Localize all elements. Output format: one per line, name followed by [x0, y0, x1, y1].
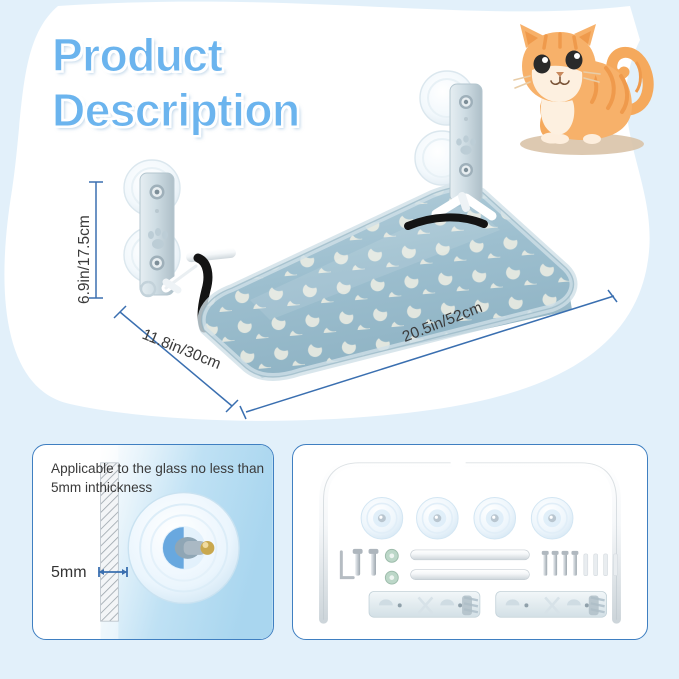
suction-cup-icon: [128, 493, 239, 604]
left-wall-bracket: [140, 173, 174, 296]
straight-tube-set: [411, 550, 530, 580]
suction-cup-set: [361, 497, 573, 539]
glass-note: Applicable to the glass no less than 5mm…: [51, 459, 265, 497]
dimension-label-height: 6.9in/17.5cm: [76, 215, 94, 304]
parts-illustration: [293, 445, 647, 639]
glass-thickness-panel: Applicable to the glass no less than 5mm…: [32, 444, 274, 640]
screw-set: [542, 551, 618, 576]
glass-note-line1: Applicable to the glass no less: [51, 461, 234, 476]
mounting-bracket-right: [496, 591, 607, 617]
bolt-set: [353, 549, 379, 576]
washer-set: [385, 549, 398, 584]
hammock-mat: [202, 187, 574, 378]
product-description-infographic: Product Description: [0, 0, 679, 679]
thickness-arrow-icon: [97, 565, 129, 579]
product-hero-illustration: [0, 0, 679, 430]
glass-thickness-label: 5mm: [51, 564, 87, 582]
mounting-bracket-left: [369, 591, 480, 617]
allen-key-icon: [341, 552, 353, 578]
parts-list-panel: [292, 444, 648, 640]
right-wall-bracket: [450, 84, 482, 202]
